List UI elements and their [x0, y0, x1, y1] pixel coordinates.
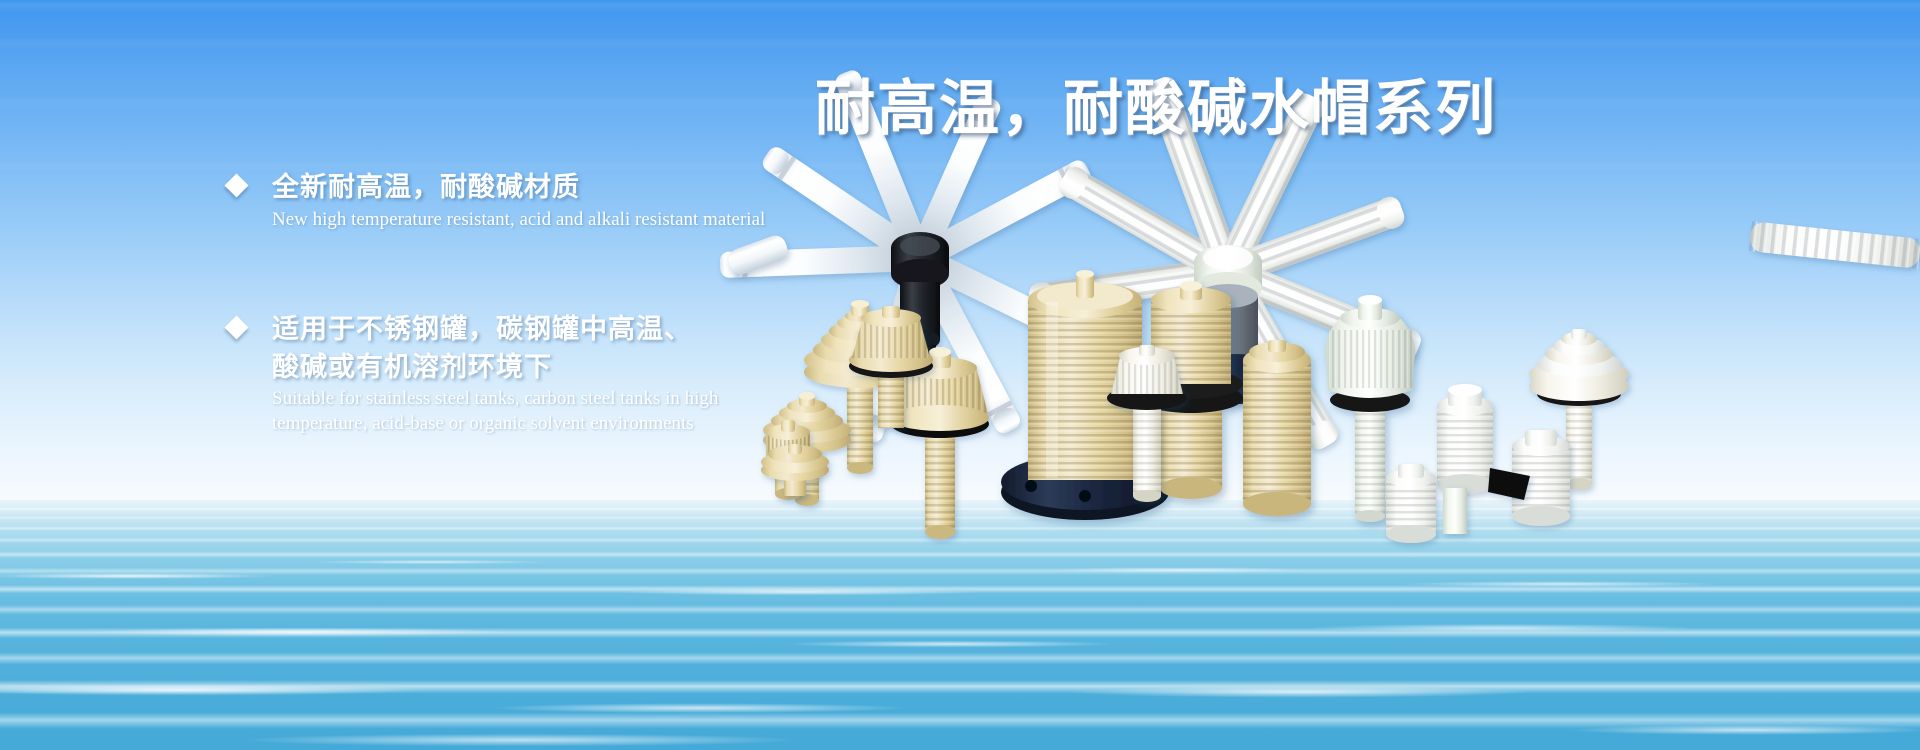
water-ripple-bands — [0, 500, 1920, 750]
product-banner: 耐高温，耐酸碱水帽系列 全新耐高温，耐酸碱材质 New high tempera… — [0, 0, 1920, 750]
bullet-1-en-line-1: New high temperature resistant, acid and… — [272, 208, 765, 232]
feature-bullet-1: 全新耐高温，耐酸碱材质 New high temperature resista… — [228, 168, 765, 232]
feature-bullet-2: 适用于不锈钢罐，碳钢罐中高温、 酸碱或有机溶剂环境下 Suitable for … — [228, 310, 718, 436]
bullet-2-en-line-2: temperature, acid-base or organic solven… — [272, 412, 718, 436]
bullet-1-cn-line-1: 全新耐高温，耐酸碱材质 — [272, 168, 765, 206]
diamond-marker-icon — [224, 315, 248, 339]
bullet-2-cn-line-1: 适用于不锈钢罐，碳钢罐中高温、 — [272, 310, 718, 348]
page-title: 耐高温，耐酸碱水帽系列 — [815, 60, 1497, 147]
bullet-2-cn-line-2: 酸碱或有机溶剂环境下 — [272, 348, 718, 386]
bullet-2-en-line-1: Suitable for stainless steel tanks, carb… — [272, 387, 718, 411]
diamond-marker-icon — [224, 173, 248, 197]
